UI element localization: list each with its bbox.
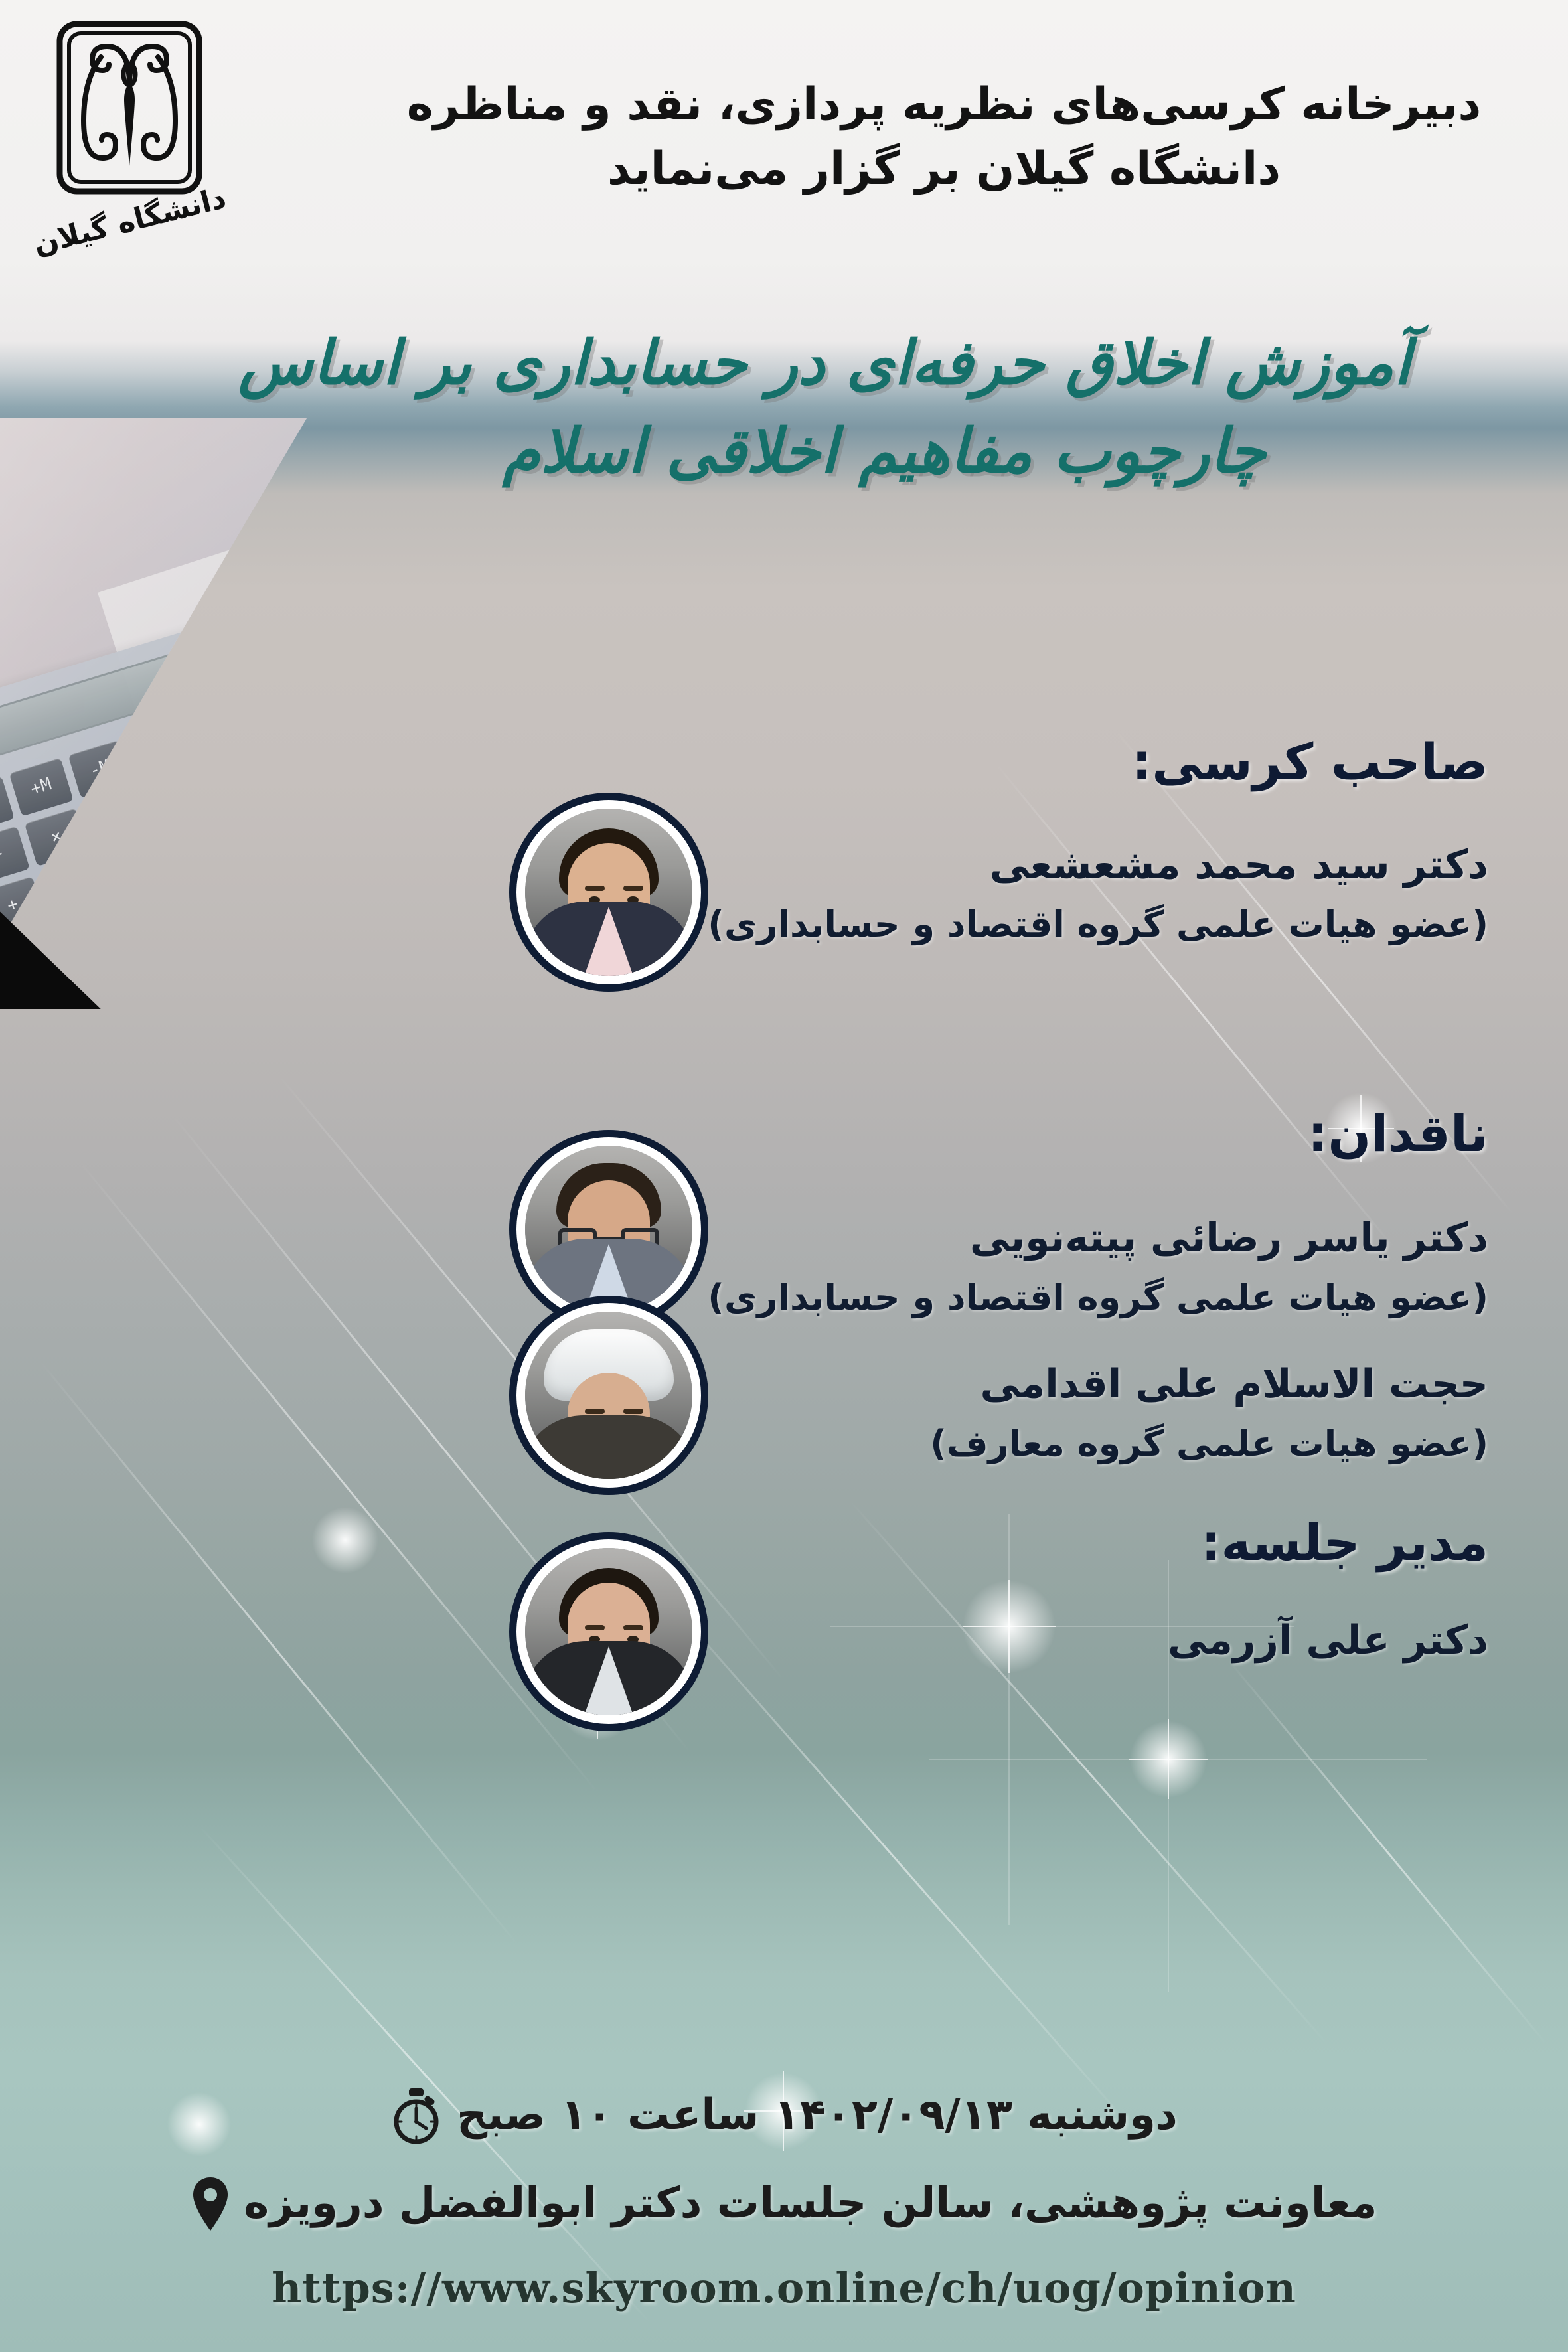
university-of-guilan-logo-icon bbox=[53, 19, 206, 198]
chair-name: دکتر سید محمد مشعشعی bbox=[990, 835, 1488, 895]
avatar-moderator bbox=[509, 1532, 708, 1731]
map-pin-icon bbox=[191, 2176, 230, 2232]
chair-affiliation: (عضو هیات علمی گروه اقتصاد و حسابداری) bbox=[708, 898, 1488, 951]
avatar-chair bbox=[509, 793, 708, 992]
header-line-2: دانشگاه گیلان بر گزار می‌نماید bbox=[400, 137, 1488, 202]
event-location-row: معاونت پژوهشی، سالن جلسات دکتر ابوالفضل … bbox=[0, 2176, 1568, 2232]
critic-2-name: حجت الاسلام علی اقدامی bbox=[980, 1354, 1488, 1414]
moderator-name: دکتر علی آزرمی bbox=[1168, 1610, 1488, 1670]
critic-2-affiliation: (عضو هیات علمی گروه معارف) bbox=[930, 1417, 1488, 1470]
title-line-1: آموزش اخلاق حرفه‌ای در حسابداری بر اساس bbox=[61, 319, 1508, 407]
avatar-critic-2 bbox=[509, 1296, 708, 1495]
critic-1-affiliation: (عضو هیات علمی گروه اقتصاد و حسابداری) bbox=[708, 1271, 1488, 1324]
event-poster: MCMRM-M+÷ 789×− 456%+ 123√= 000.CAC دانش… bbox=[0, 0, 1568, 2352]
poster-footer: دوشنبه ۱۴۰۲/۰۹/۱۳ ساعت ۱۰ صبح معاونت bbox=[0, 2087, 1568, 2312]
university-logo-block: دانشگاه گیلان bbox=[27, 19, 232, 238]
event-datetime-text: دوشنبه ۱۴۰۲/۰۹/۱۳ ساعت ۱۰ صبح bbox=[457, 2088, 1178, 2143]
poster-header: دبیرخانه کرسی‌های نظریه پردازی، نقد و من… bbox=[400, 73, 1488, 201]
moderator-role-label: مدیر جلسه: bbox=[1201, 1518, 1488, 1568]
event-location-text: معاونت پژوهشی، سالن جلسات دکتر ابوالفضل … bbox=[244, 2176, 1377, 2231]
poster-title: آموزش اخلاق حرفه‌ای در حسابداری بر اساس … bbox=[61, 319, 1508, 496]
title-line-2: چارچوب مفاهیم اخلاقی اسلام bbox=[61, 407, 1508, 495]
header-line-1: دبیرخانه کرسی‌های نظریه پردازی، نقد و من… bbox=[400, 73, 1488, 137]
stopwatch-icon bbox=[390, 2087, 442, 2144]
event-datetime-row: دوشنبه ۱۴۰۲/۰۹/۱۳ ساعت ۱۰ صبح bbox=[0, 2087, 1568, 2144]
critic-1-name: دکتر یاسر رضائی پیته‌نویی bbox=[970, 1208, 1488, 1268]
critics-role-label: ناقدان: bbox=[1308, 1109, 1488, 1159]
participants-section: صاحب کرسی: دکتر سید محمد مشعشعی (عضو هیا… bbox=[0, 724, 1568, 1759]
chair-role-label: صاحب کرسی: bbox=[1132, 737, 1488, 787]
event-url[interactable]: https://www.skyroom.online/ch/uog/opinio… bbox=[0, 2264, 1568, 2312]
